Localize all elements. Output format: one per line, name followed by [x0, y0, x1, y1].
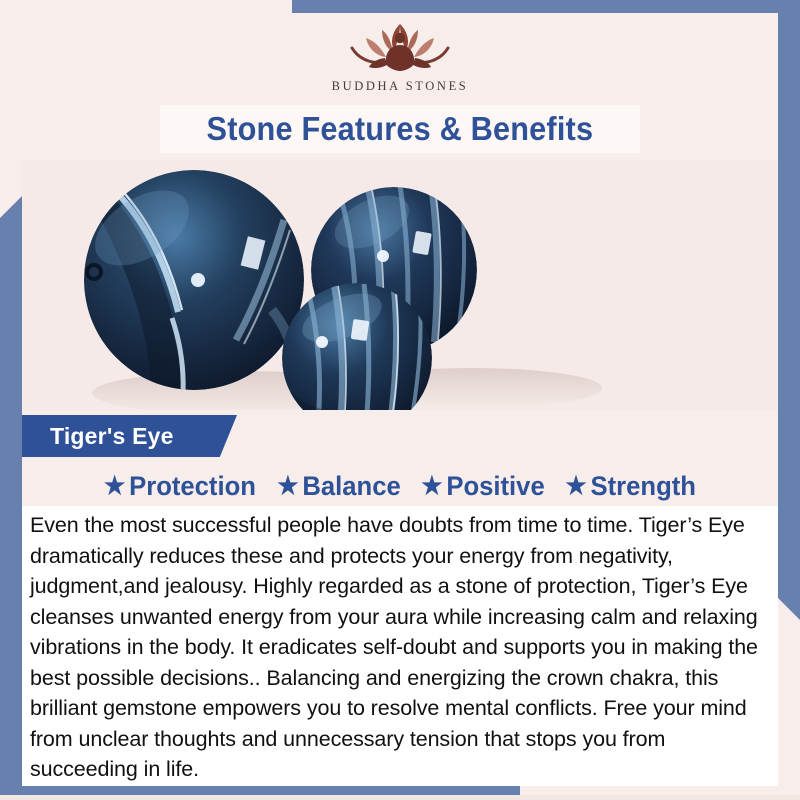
benefit-item: ★ Protection — [100, 471, 261, 502]
description-text: Even the most successful people have dou… — [26, 510, 778, 785]
brand-name: BUDDHA STONES — [332, 79, 469, 94]
title-banner: Stone Features & Benefits — [160, 105, 640, 153]
benefit-label: Balance — [303, 471, 401, 502]
stone-name: Tiger's Eye — [50, 423, 174, 450]
benefit-item: ★ Balance — [273, 471, 406, 502]
lotus-meditation-icon — [330, 14, 470, 78]
benefits-row: ★ Protection ★ Balance ★ Positive ★ Stre… — [22, 466, 778, 506]
description-panel: Even the most successful people have dou… — [22, 506, 778, 786]
benefit-item: ★ Positive — [417, 471, 550, 502]
benefit-label: Protection — [129, 471, 256, 502]
frame-bottom-strip — [0, 795, 800, 800]
star-icon: ★ — [422, 474, 443, 499]
stone-photo-art — [22, 160, 778, 410]
star-icon: ★ — [566, 474, 587, 499]
star-icon: ★ — [278, 474, 299, 499]
frame-left-band — [0, 196, 22, 800]
benefit-label: Positive — [447, 471, 545, 502]
brand-logo: BUDDHA STONES — [0, 14, 800, 104]
benefit-label: Strength — [591, 471, 696, 502]
star-icon: ★ — [104, 474, 125, 499]
benefit-item: ★ Strength — [561, 471, 701, 502]
page-title: Stone Features & Benefits — [207, 110, 594, 148]
stone-name-banner: Tiger's Eye — [22, 415, 237, 457]
stone-photo — [22, 160, 778, 410]
frame-top-band — [292, 0, 800, 13]
infographic-page: BUDDHA STONES Stone Features & Benefits — [0, 0, 800, 800]
